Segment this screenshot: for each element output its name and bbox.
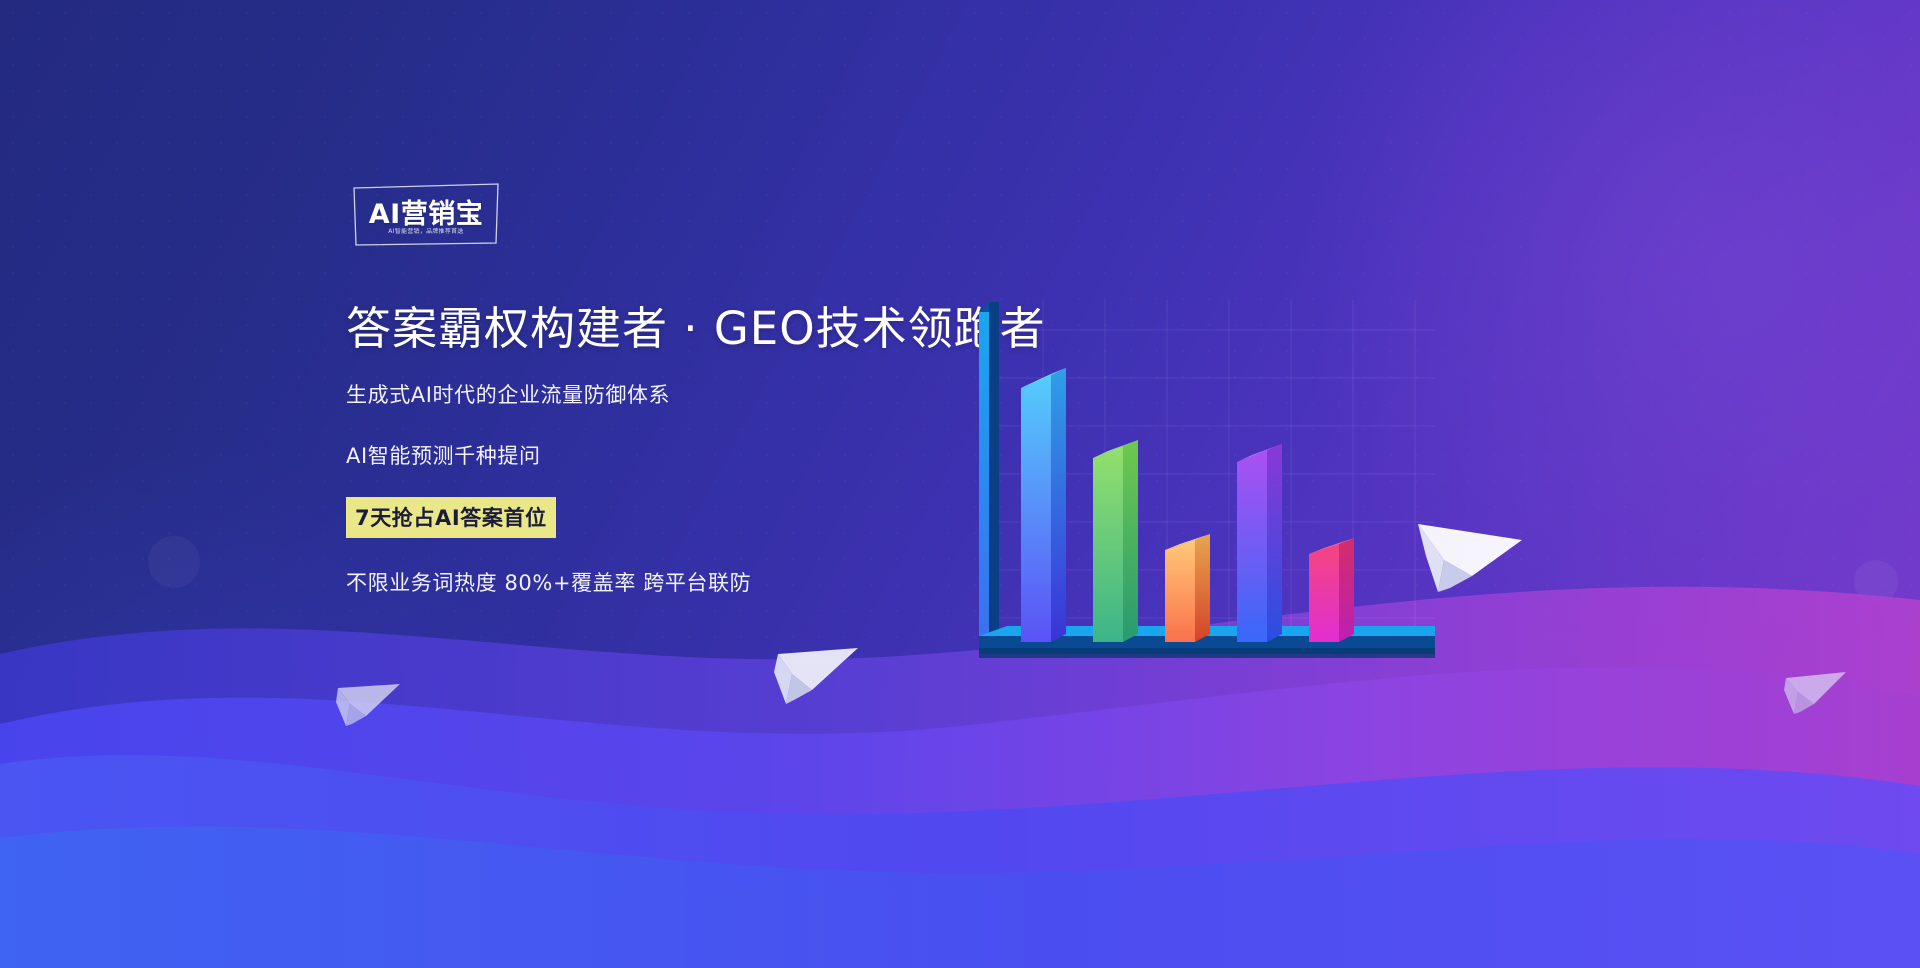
brand-logo[interactable]: AI营销宝 AI智能营销，品牌推荐首选 bbox=[352, 183, 500, 247]
chart-bar-2 bbox=[1093, 440, 1138, 642]
chart-y-axis bbox=[979, 302, 999, 650]
bar-chart-illustration bbox=[965, 290, 1435, 670]
hero-banner: AI营销宝 AI智能营销，品牌推荐首选 答案霸权构建者 · GEO技术领跑者 生… bbox=[0, 0, 1920, 968]
chart-bar-4 bbox=[1237, 444, 1282, 642]
chart-bar-5 bbox=[1309, 538, 1354, 642]
logo-tagline: AI智能营销，品牌推荐首选 bbox=[356, 226, 497, 235]
chart-bar-1 bbox=[1021, 368, 1066, 642]
logo-wordmark: AI营销宝 bbox=[352, 192, 500, 231]
chart-bar-3 bbox=[1165, 534, 1210, 642]
hero-highlight-badge: 7天抢占AI答案首位 bbox=[346, 497, 556, 538]
